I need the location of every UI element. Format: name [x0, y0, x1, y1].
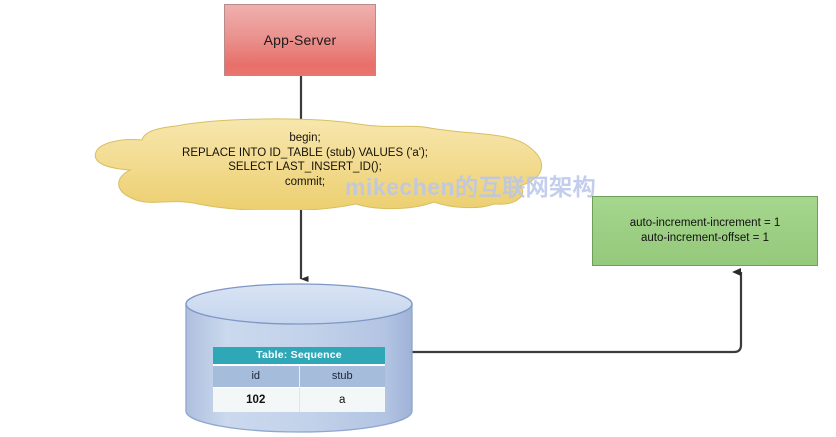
auto-increment-config-box: auto-increment-increment = 1 auto-increm… [592, 196, 818, 266]
config-line-increment: auto-increment-increment = 1 [630, 216, 781, 231]
sql-cloud-shape [58, 118, 570, 210]
app-server-node: App-Server [224, 4, 376, 76]
diagram-canvas: begin; REPLACE INTO ID_TABLE (stub) VALU… [0, 0, 836, 437]
column-header-stub: stub [299, 365, 385, 388]
cell-id: 102 [213, 388, 299, 413]
table-title: Table: Sequence [213, 347, 385, 365]
table-title-row: Table: Sequence [213, 347, 385, 365]
sequence-table: Table: Sequence id stub 102 a [213, 347, 385, 412]
config-line-offset: auto-increment-offset = 1 [641, 231, 769, 246]
cell-stub: a [299, 388, 385, 413]
column-header-id: id [213, 365, 299, 388]
table-header-row: id stub [213, 365, 385, 388]
app-server-label: App-Server [264, 32, 337, 48]
connector-database-to-config [404, 272, 741, 352]
table-row: 102 a [213, 388, 385, 413]
